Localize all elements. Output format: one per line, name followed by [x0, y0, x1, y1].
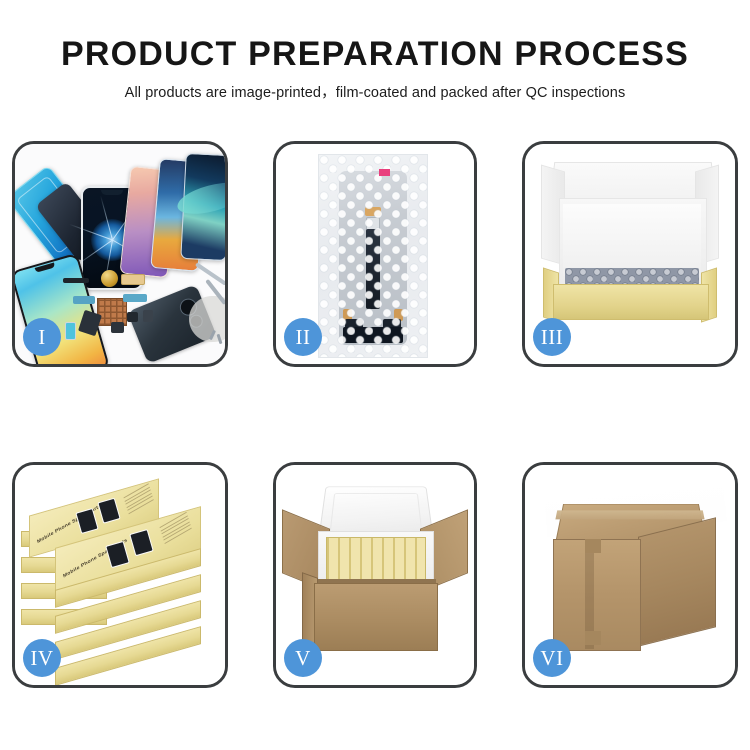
flex-cable-icon [73, 296, 95, 304]
carton-tab-icon [585, 539, 601, 553]
foam-sheet-icon [563, 204, 701, 276]
step-panel-3[interactable]: III [522, 141, 738, 367]
vibration-motor-icon [101, 270, 118, 287]
battery-connector-icon [65, 322, 76, 340]
flex-cable-icon [121, 274, 145, 285]
packing-tape-icon [555, 510, 704, 519]
step-panel-2[interactable]: II [273, 141, 477, 367]
carton-front-icon [314, 583, 438, 651]
carton-side-icon [638, 517, 716, 646]
step-badge-6: VI [533, 639, 571, 677]
small-component-icon [111, 322, 124, 333]
step-panel-5[interactable]: V [273, 462, 477, 688]
notch-icon [35, 262, 56, 272]
carton-tab-icon [585, 631, 601, 645]
notch-icon [101, 190, 123, 195]
box-screen-photo [105, 541, 130, 568]
step-panel-6[interactable]: VI [522, 462, 738, 688]
step-badge-3: III [533, 318, 571, 356]
step-badge-1: I [23, 318, 61, 356]
box-screen-photo [97, 498, 120, 524]
kraft-boxes-inside-icon [326, 537, 426, 583]
step-badge-2: II [284, 318, 322, 356]
teal-phone-icon [180, 153, 225, 261]
box-spec-lines [160, 512, 193, 546]
bubble-bag-icon [318, 154, 428, 358]
mailer-front-icon [553, 284, 709, 320]
process-step-grid: I II [0, 0, 750, 750]
step-badge-4: IV [23, 639, 61, 677]
pink-seal-tab-icon [379, 169, 390, 176]
bubble-texture-icon [319, 155, 427, 357]
step-panel-4[interactable]: Mobile Phone Spare Parts Mobile Phone Sp… [12, 462, 228, 688]
earpiece-strip-icon [63, 278, 89, 283]
box-screen-photo [129, 529, 154, 556]
step-badge-5: V [284, 639, 322, 677]
small-component-icon [127, 312, 138, 322]
small-component-icon [143, 310, 153, 322]
box-spec-lines [124, 483, 155, 516]
step-panel-1[interactable]: I [12, 141, 228, 367]
flex-cable-icon [123, 294, 147, 302]
